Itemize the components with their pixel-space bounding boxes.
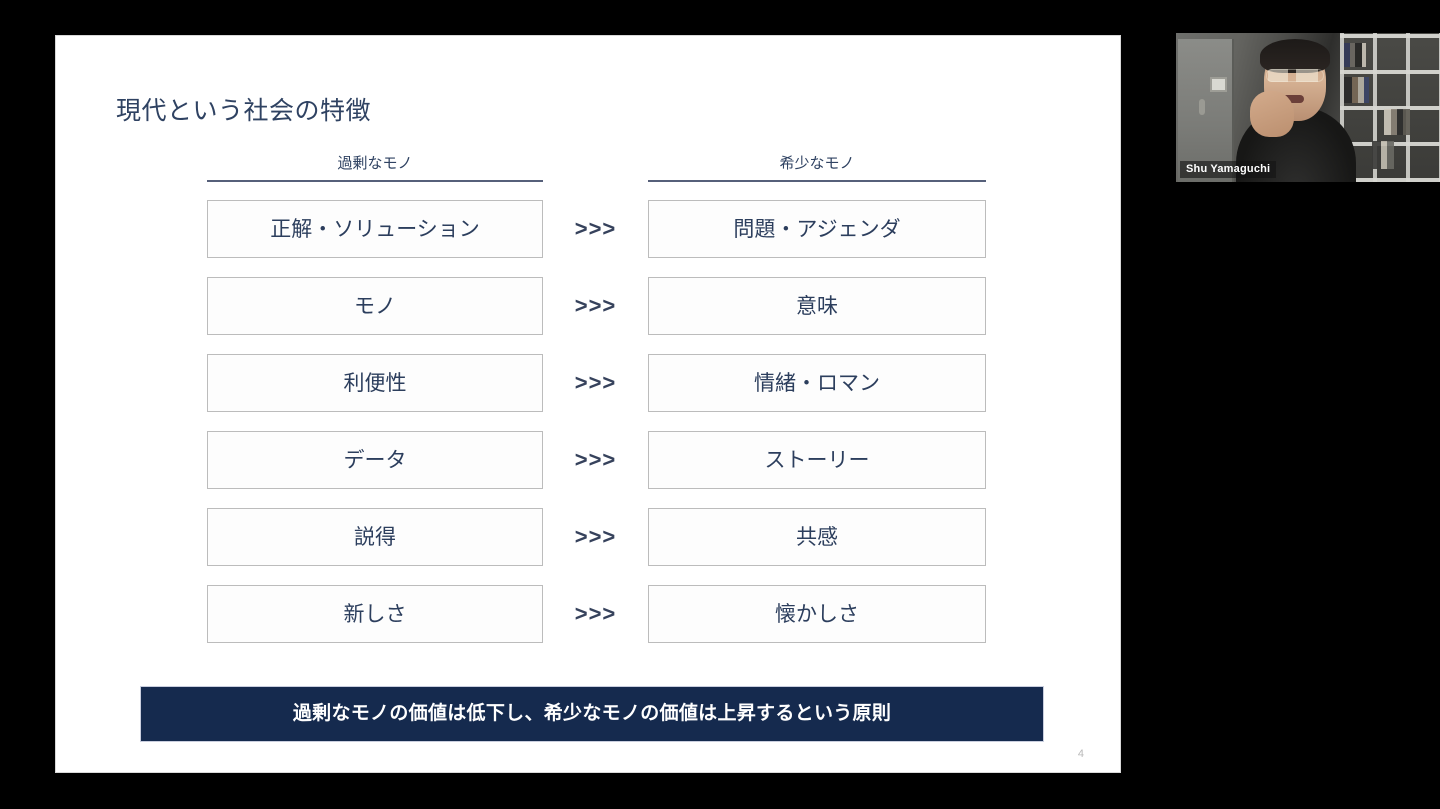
column-header-left: 過剰なモノ bbox=[207, 152, 543, 182]
arrow-right-icon: >>> bbox=[543, 200, 648, 258]
presentation-slide: 現代という社会の特徴 過剰なモノ 希少なモノ 正解・ソリューション >>> 問題… bbox=[56, 36, 1120, 772]
participant-video-tile[interactable]: Shu Yamaguchi bbox=[1176, 33, 1440, 182]
glasses-icon bbox=[1266, 69, 1324, 82]
matrix-cell-right: ストーリー bbox=[648, 431, 986, 489]
matrix-cell-left: データ bbox=[207, 431, 543, 489]
matrix-row: 説得 >>> 共感 bbox=[56, 508, 1120, 585]
matrix-cell-right: 懐かしさ bbox=[648, 585, 986, 643]
matrix-cell-left: 利便性 bbox=[207, 354, 543, 412]
matrix-row: 正解・ソリューション >>> 問題・アジェンダ bbox=[56, 200, 1120, 277]
matrix-row: 新しさ >>> 懐かしさ bbox=[56, 585, 1120, 662]
slide-page-number: 4 bbox=[1078, 748, 1084, 760]
participant-hand bbox=[1250, 91, 1294, 137]
column-header-right: 希少なモノ bbox=[648, 152, 986, 182]
video-background-books bbox=[1344, 37, 1438, 178]
column-header-left-label: 過剰なモノ bbox=[207, 152, 543, 180]
video-background-note bbox=[1210, 77, 1227, 92]
arrow-right-icon: >>> bbox=[543, 431, 648, 489]
arrow-right-icon: >>> bbox=[543, 585, 648, 643]
page-title: 現代という社会の特徴 bbox=[116, 91, 371, 127]
participant-name-label: Shu Yamaguchi bbox=[1180, 161, 1276, 178]
column-header-left-rule bbox=[207, 180, 543, 182]
matrix-cell-right: 共感 bbox=[648, 508, 986, 566]
arrow-right-icon: >>> bbox=[543, 354, 648, 412]
matrix-row: モノ >>> 意味 bbox=[56, 277, 1120, 354]
matrix-cell-left: 説得 bbox=[207, 508, 543, 566]
matrix-cell-right: 情緒・ロマン bbox=[648, 354, 986, 412]
matrix-row: 利便性 >>> 情緒・ロマン bbox=[56, 354, 1120, 431]
matrix-cell-left: 正解・ソリューション bbox=[207, 200, 543, 258]
matrix-cell-right: 問題・アジェンダ bbox=[648, 200, 986, 258]
video-background-doorknob bbox=[1199, 99, 1205, 115]
matrix-cell-left: モノ bbox=[207, 277, 543, 335]
matrix-column-headers: 過剰なモノ 希少なモノ bbox=[56, 152, 1120, 200]
arrow-right-icon: >>> bbox=[543, 277, 648, 335]
column-header-right-label: 希少なモノ bbox=[648, 152, 986, 180]
arrow-right-icon: >>> bbox=[543, 508, 648, 566]
conclusion-banner: 過剰なモノの価値は低下し、希少なモノの価値は上昇するという原則 bbox=[140, 686, 1044, 742]
comparison-matrix: 過剰なモノ 希少なモノ 正解・ソリューション >>> 問題・アジェンダ モノ >… bbox=[56, 152, 1120, 662]
matrix-row: データ >>> ストーリー bbox=[56, 431, 1120, 508]
matrix-cell-right: 意味 bbox=[648, 277, 986, 335]
column-header-right-rule bbox=[648, 180, 986, 182]
matrix-cell-left: 新しさ bbox=[207, 585, 543, 643]
participant-hair bbox=[1260, 39, 1330, 73]
